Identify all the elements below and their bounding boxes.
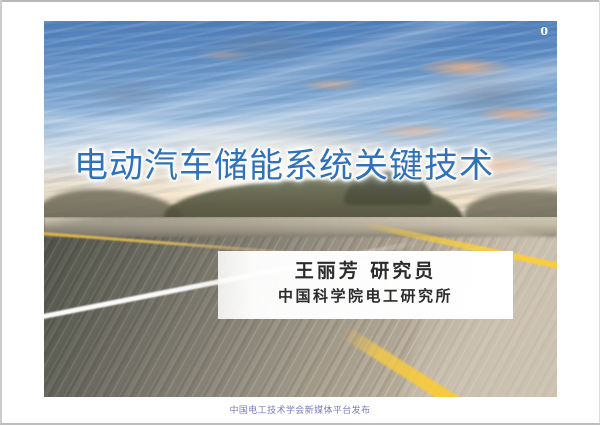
slide-page: 0 电动汽车储能系统关键技术 王丽芳 研究员 中国科学院电工研究所 中国电工技术… — [0, 0, 600, 426]
author-affiliation: 中国科学院电工研究所 — [218, 284, 513, 308]
page-top-border — [0, 0, 600, 2]
author-box: 王丽芳 研究员 中国科学院电工研究所 — [218, 251, 513, 319]
slide-background-image: 0 — [44, 21, 557, 397]
footer-note: 中国电工技术学会新媒体平台发布 — [0, 404, 600, 418]
page-title: 电动汽车储能系统关键技术 — [74, 147, 514, 185]
author-name: 王丽芳 研究员 — [218, 258, 513, 284]
page-left-border — [0, 0, 2, 424]
page-bottom-border — [0, 423, 600, 425]
page-number: 0 — [540, 25, 548, 38]
